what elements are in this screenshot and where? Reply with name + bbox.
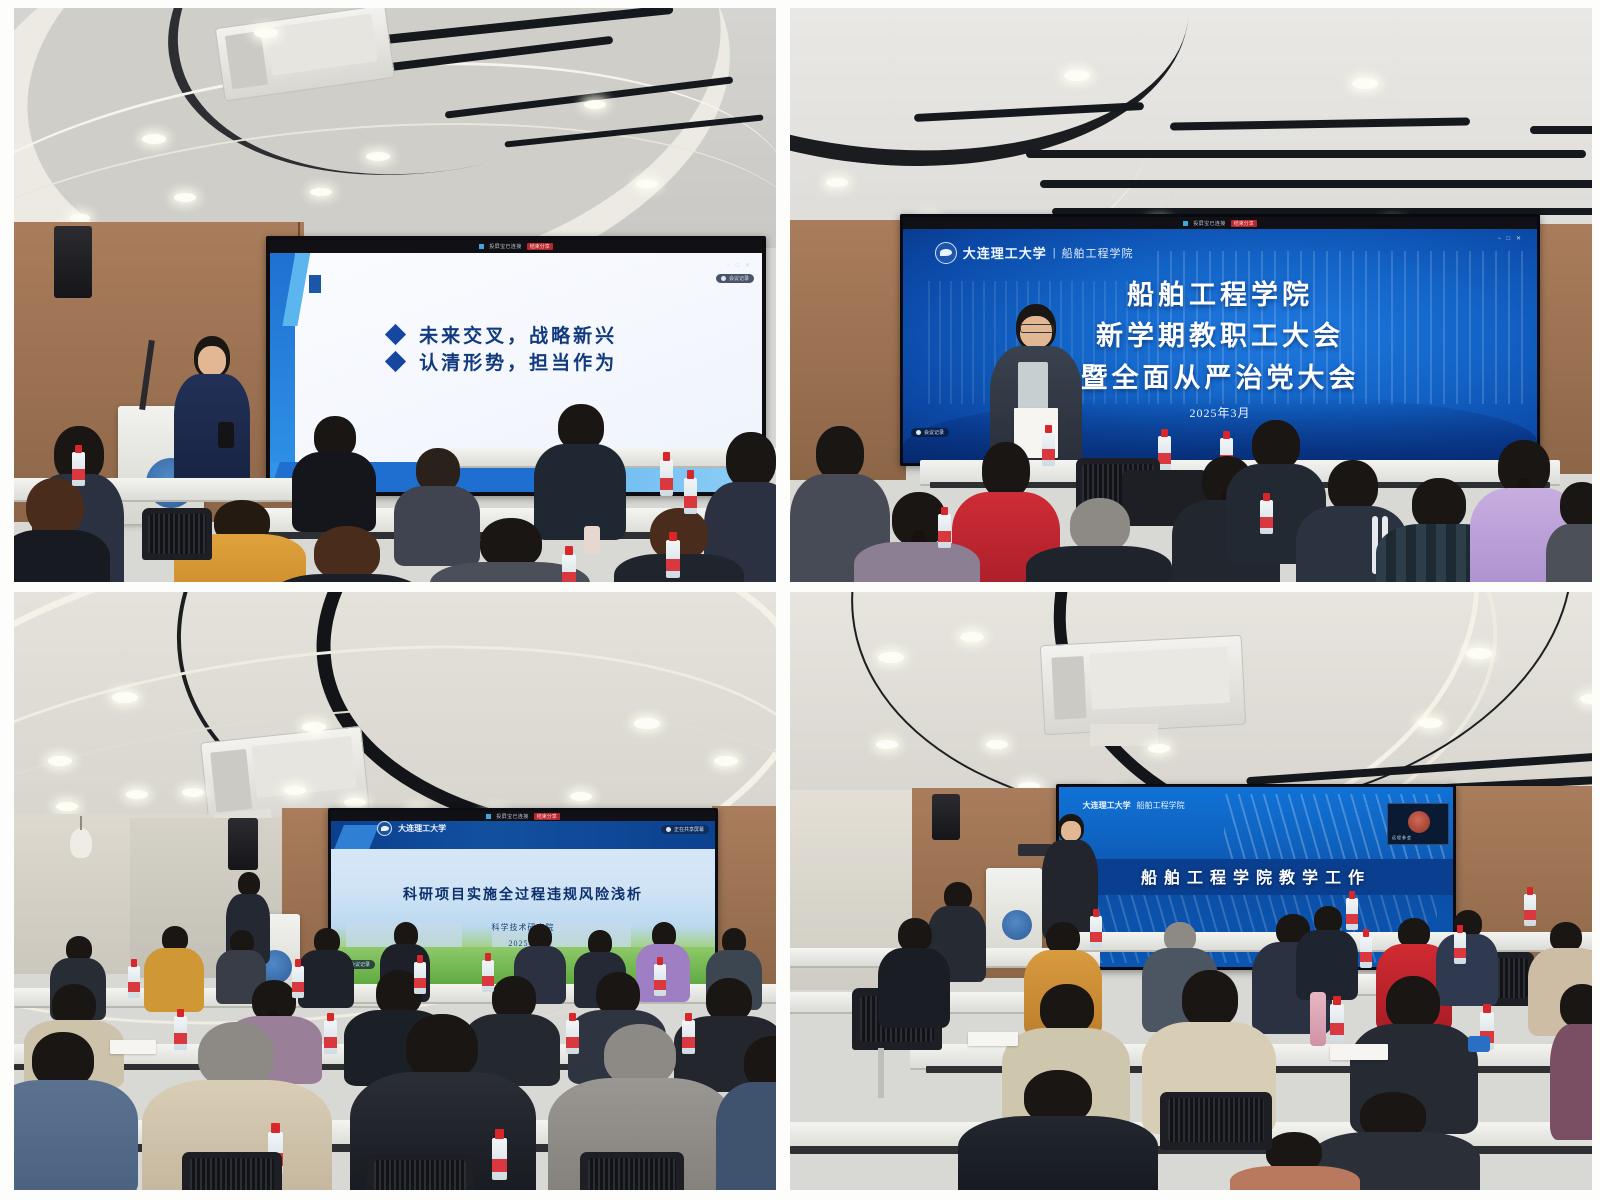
pendant-cord xyxy=(80,816,82,830)
glasses-icon xyxy=(1020,324,1054,333)
share-label: 正在共享屏幕 xyxy=(674,826,704,833)
head xyxy=(1070,498,1130,552)
water-bottle xyxy=(1090,916,1102,948)
head xyxy=(406,1014,478,1080)
wall-speaker xyxy=(54,226,92,298)
record-icon xyxy=(721,276,726,281)
downlight xyxy=(112,692,138,703)
head xyxy=(238,872,260,896)
recording-pill[interactable]: 会议记录 xyxy=(911,428,949,437)
downlight xyxy=(366,152,390,161)
record-icon xyxy=(916,430,921,435)
status-text: 投屏宝已连接 xyxy=(489,243,521,250)
audience-person xyxy=(1550,984,1592,1134)
downlight xyxy=(48,756,72,766)
signal-icon xyxy=(479,244,484,249)
torso xyxy=(14,530,110,582)
downlight xyxy=(826,178,848,187)
torso xyxy=(1026,546,1172,582)
water-bottle xyxy=(1524,894,1536,926)
torso xyxy=(716,1082,776,1190)
dut-crest-icon xyxy=(935,242,957,264)
logo-sub-text: 船舶工程学院 xyxy=(1137,800,1185,811)
window-controls[interactable]: − □ ✕ xyxy=(1498,235,1524,242)
recording-pill[interactable]: 会议记录 xyxy=(716,274,754,283)
slide-logo: 大连理工大学 船舶工程学院 xyxy=(1083,800,1185,811)
water-bottle xyxy=(1260,500,1273,534)
video-label: 远程参会 xyxy=(1392,835,1412,841)
slide-title: 船舶工程学院教学工作 xyxy=(1059,864,1453,888)
audience-person xyxy=(144,926,204,1010)
paper-notes xyxy=(968,1032,1018,1046)
bullet-text: 认清形势，担当作为 xyxy=(419,348,617,375)
downlight xyxy=(310,188,332,196)
paper-notes xyxy=(110,1040,156,1054)
downlight xyxy=(182,788,204,797)
downlight xyxy=(284,786,306,795)
window-controls[interactable]: − □ ✕ xyxy=(727,262,753,269)
audience-person xyxy=(14,1032,138,1190)
status-badge[interactable]: 结束分享 xyxy=(1231,220,1257,227)
diamond-bullet-icon xyxy=(385,351,406,372)
logo-main-text: 大连理工大学 xyxy=(398,823,446,834)
audience-person xyxy=(534,404,626,534)
paper-notes xyxy=(1330,1044,1388,1060)
torso xyxy=(1550,1024,1592,1140)
downlight xyxy=(1352,78,1378,89)
pink-thermos xyxy=(1310,992,1326,1046)
downlight xyxy=(570,792,592,801)
water-bottle xyxy=(660,460,673,496)
head xyxy=(816,426,864,480)
head xyxy=(26,478,84,538)
logo-main-text: 大连理工大学 xyxy=(963,243,1047,262)
downlight xyxy=(254,28,278,38)
audience-person xyxy=(878,918,950,1022)
water-bottle xyxy=(292,966,304,998)
water-bottle xyxy=(682,1020,695,1054)
downlight xyxy=(302,722,326,732)
downlight xyxy=(986,740,1008,749)
screen-status-bar: 投屏宝已连接 结束分享 xyxy=(270,240,762,253)
status-text: 投屏宝已连接 xyxy=(496,813,528,820)
face xyxy=(198,346,226,376)
slide-logo: 大连理工大学 xyxy=(377,821,446,836)
audience-person xyxy=(1546,482,1592,582)
presenter-remote xyxy=(218,422,234,448)
video-thumbnail[interactable]: 远程参会 xyxy=(1387,803,1449,845)
torso xyxy=(878,948,950,1028)
torso xyxy=(1230,1166,1360,1190)
water-bottle xyxy=(174,1016,187,1050)
wall-speaker xyxy=(932,794,960,840)
list-item: 认清形势，担当作为 xyxy=(388,348,617,375)
audience-person xyxy=(1026,498,1172,582)
torso xyxy=(144,948,204,1012)
share-pill[interactable]: 正在共享屏幕 xyxy=(661,825,709,834)
torso xyxy=(174,374,250,494)
photo-collage: 未来交叉，战略新兴 认清形势，担当作为 投屏宝已连接 xyxy=(0,0,1600,1200)
panel-top-left[interactable]: 未来交叉，战略新兴 认清形势，担当作为 投屏宝已连接 xyxy=(14,8,776,582)
torso xyxy=(272,574,422,582)
screen-status-bar: 投屏宝已连接 结束分享 xyxy=(331,811,715,821)
audience-person xyxy=(272,526,422,582)
head xyxy=(1412,478,1466,530)
torso xyxy=(854,542,980,582)
logo-divider: | xyxy=(1053,247,1056,259)
chair-back xyxy=(190,1158,274,1190)
head xyxy=(1040,984,1094,1034)
downlight xyxy=(878,652,904,663)
status-badge[interactable]: 结束分享 xyxy=(534,813,560,820)
participant-avatar xyxy=(1408,811,1430,833)
panel-bottom-left[interactable]: 大连理工大学 科研项目实施全过程违规风险浅析 科学技术研究院 2025年 投屏宝… xyxy=(14,592,776,1190)
head xyxy=(1560,482,1592,528)
head xyxy=(1386,976,1440,1030)
head xyxy=(480,518,542,568)
downlight xyxy=(344,798,366,807)
panel-top-right[interactable]: 大连理工大学 | 船舶工程学院 船舶工程学院 新学期教职工大会 暨全面从严治党大… xyxy=(790,8,1592,582)
water-bottle xyxy=(1346,898,1358,930)
water-bottle xyxy=(414,962,426,994)
downlight xyxy=(142,134,166,144)
audience-person xyxy=(14,478,110,582)
downlight xyxy=(634,718,660,729)
water-bottle xyxy=(684,478,697,514)
head xyxy=(898,918,932,952)
blue-item xyxy=(1468,1036,1490,1052)
torso xyxy=(14,1080,138,1190)
water-bottle xyxy=(1454,932,1466,964)
list-item: 未来交叉，战略新兴 xyxy=(388,321,617,348)
head xyxy=(1182,970,1238,1028)
chair-back xyxy=(588,1158,676,1190)
torso xyxy=(1546,524,1592,582)
slide-bullet-list: 未来交叉，战略新兴 认清形势，担当作为 xyxy=(388,321,617,375)
water-bottle xyxy=(654,964,666,996)
downlight xyxy=(1466,648,1492,659)
torso xyxy=(1296,930,1358,1000)
audience-person xyxy=(292,416,376,526)
ceiling-slit xyxy=(1530,126,1592,134)
water-bottle xyxy=(1360,936,1372,968)
audience-person xyxy=(854,492,980,582)
status-text: 投屏宝已连接 xyxy=(1193,220,1225,227)
downlight xyxy=(56,802,78,811)
downlight xyxy=(636,180,658,188)
head xyxy=(604,1024,676,1086)
head xyxy=(1328,460,1378,512)
audience-person xyxy=(716,1036,776,1190)
water-bottle xyxy=(666,540,680,578)
dut-crest-icon xyxy=(377,821,392,836)
head xyxy=(1560,984,1592,1028)
head xyxy=(726,432,776,488)
downlight xyxy=(174,193,196,202)
phone xyxy=(584,526,600,554)
downlight xyxy=(876,740,898,749)
logo-main-text: 大连理工大学 xyxy=(1083,800,1131,811)
ceiling-ac-unit xyxy=(1040,635,1246,735)
water-bottle xyxy=(482,960,494,992)
water-bottle xyxy=(72,452,85,486)
pendant-lamp xyxy=(70,828,92,858)
screen-status-bar: 投屏宝已连接 结束分享 xyxy=(903,217,1537,229)
share-icon xyxy=(666,827,671,832)
wall-speaker xyxy=(228,818,258,870)
chair-back xyxy=(1168,1098,1264,1142)
recording-label: 会议记录 xyxy=(924,429,944,436)
water-bottle xyxy=(566,1020,579,1054)
slide-title: 科研项目实施全过程违规风险浅析 xyxy=(331,884,715,904)
downlight xyxy=(584,100,606,109)
water-bottle xyxy=(128,966,140,998)
downlight xyxy=(960,632,984,642)
recording-label: 会议记录 xyxy=(729,275,749,282)
head xyxy=(198,1022,274,1088)
head xyxy=(982,442,1030,498)
head xyxy=(1252,420,1300,470)
water-bottle xyxy=(492,1138,507,1180)
chair-back xyxy=(374,1160,466,1190)
downlight xyxy=(714,756,738,766)
ceiling-slit xyxy=(1026,150,1586,158)
chair-leg xyxy=(878,1048,884,1098)
water-bottle xyxy=(938,514,951,548)
chair-back xyxy=(148,514,206,554)
signal-icon xyxy=(1183,221,1188,226)
torso xyxy=(958,1116,1158,1190)
torso xyxy=(292,452,376,532)
water-bottle xyxy=(324,1020,337,1054)
downlight xyxy=(126,790,148,799)
downlight xyxy=(1148,744,1170,753)
panel-bottom-right[interactable]: 大连理工大学 船舶工程学院 船舶工程学院教学工作 远程参会 xyxy=(790,592,1592,1190)
downlight xyxy=(70,214,90,222)
ac-duct xyxy=(1090,724,1158,746)
downlight xyxy=(1064,70,1090,81)
logo-sub-text: 船舶工程学院 xyxy=(1062,245,1134,261)
water-bottle xyxy=(1330,1004,1344,1042)
ceiling-slit xyxy=(1040,180,1592,188)
bullet-text: 未来交叉，战略新兴 xyxy=(419,321,617,348)
wood-wall-right xyxy=(1534,224,1592,474)
slide-logo: 大连理工大学 | 船舶工程学院 xyxy=(935,242,1134,264)
face xyxy=(1061,821,1081,841)
water-bottle xyxy=(562,554,576,582)
status-badge[interactable]: 结束分享 xyxy=(527,243,553,250)
slide-square-mark xyxy=(309,275,321,293)
diamond-bullet-icon xyxy=(385,324,406,345)
head xyxy=(314,526,380,580)
downlight xyxy=(1418,718,1442,728)
audience-person xyxy=(958,1070,1158,1190)
signal-icon xyxy=(486,814,491,819)
